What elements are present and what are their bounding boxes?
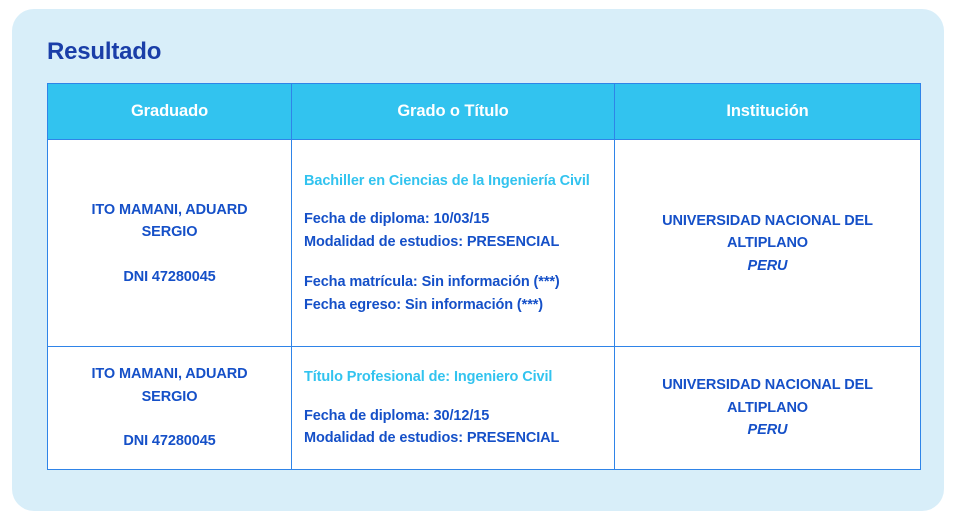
result-card: Resultado Graduado Grado o Título Instit…	[12, 9, 944, 511]
graduate-name: ITO MAMANI, ADUARD SERGIO	[91, 202, 247, 240]
cell-grado: Título Profesional de: Ingeniero Civil F…	[292, 347, 615, 469]
institution-country: PERU	[641, 419, 894, 441]
degree-title: Título Profesional de: Ingeniero Civil	[304, 367, 598, 389]
cell-institucion: UNIVERSIDAD NACIONAL DEL ALTIPLANO PERU	[615, 140, 921, 347]
column-header-grado: Grado o Título	[292, 84, 615, 140]
table-header: Graduado Grado o Título Institución	[48, 84, 921, 140]
degree-diploma-date: Fecha de diploma: 10/03/15	[304, 208, 598, 230]
degree-study-mode: Modalidad de estudios: PRESENCIAL	[304, 427, 598, 449]
graduate-document: DNI 47280045	[66, 430, 273, 452]
institution-name: UNIVERSIDAD NACIONAL DEL ALTIPLANO	[662, 213, 873, 251]
degree-title: Bachiller en Ciencias de la Ingeniería C…	[304, 171, 598, 193]
spacer	[304, 253, 598, 271]
column-header-institucion: Institución	[615, 84, 921, 140]
degree-study-mode: Modalidad de estudios: PRESENCIAL	[304, 231, 598, 253]
table-body: ITO MAMANI, ADUARD SERGIO DNI 47280045 B…	[48, 140, 921, 469]
institution-name: UNIVERSIDAD NACIONAL DEL ALTIPLANO	[662, 377, 873, 415]
cell-grado: Bachiller en Ciencias de la Ingeniería C…	[292, 140, 615, 347]
column-header-graduado: Graduado	[48, 84, 292, 140]
table-row: ITO MAMANI, ADUARD SERGIO DNI 47280045 B…	[48, 140, 921, 347]
graduate-name: ITO MAMANI, ADUARD SERGIO	[91, 366, 247, 404]
table-header-row: Graduado Grado o Título Institución	[48, 84, 921, 140]
cell-graduado: ITO MAMANI, ADUARD SERGIO DNI 47280045	[48, 140, 292, 347]
degree-enrollment-date: Fecha matrícula: Sin información (***)	[304, 271, 598, 293]
results-table: Graduado Grado o Título Institución ITO …	[47, 83, 921, 469]
graduate-document: DNI 47280045	[66, 266, 273, 288]
page-title: Resultado	[47, 39, 914, 65]
degree-diploma-date: Fecha de diploma: 30/12/15	[304, 405, 598, 427]
page-root: Resultado Graduado Grado o Título Instit…	[0, 0, 956, 523]
cell-institucion: UNIVERSIDAD NACIONAL DEL ALTIPLANO PERU	[615, 347, 921, 469]
degree-graduation-date: Fecha egreso: Sin información (***)	[304, 294, 598, 316]
institution-country: PERU	[641, 255, 894, 277]
cell-graduado: ITO MAMANI, ADUARD SERGIO DNI 47280045	[48, 347, 292, 469]
table-row: ITO MAMANI, ADUARD SERGIO DNI 47280045 T…	[48, 347, 921, 469]
